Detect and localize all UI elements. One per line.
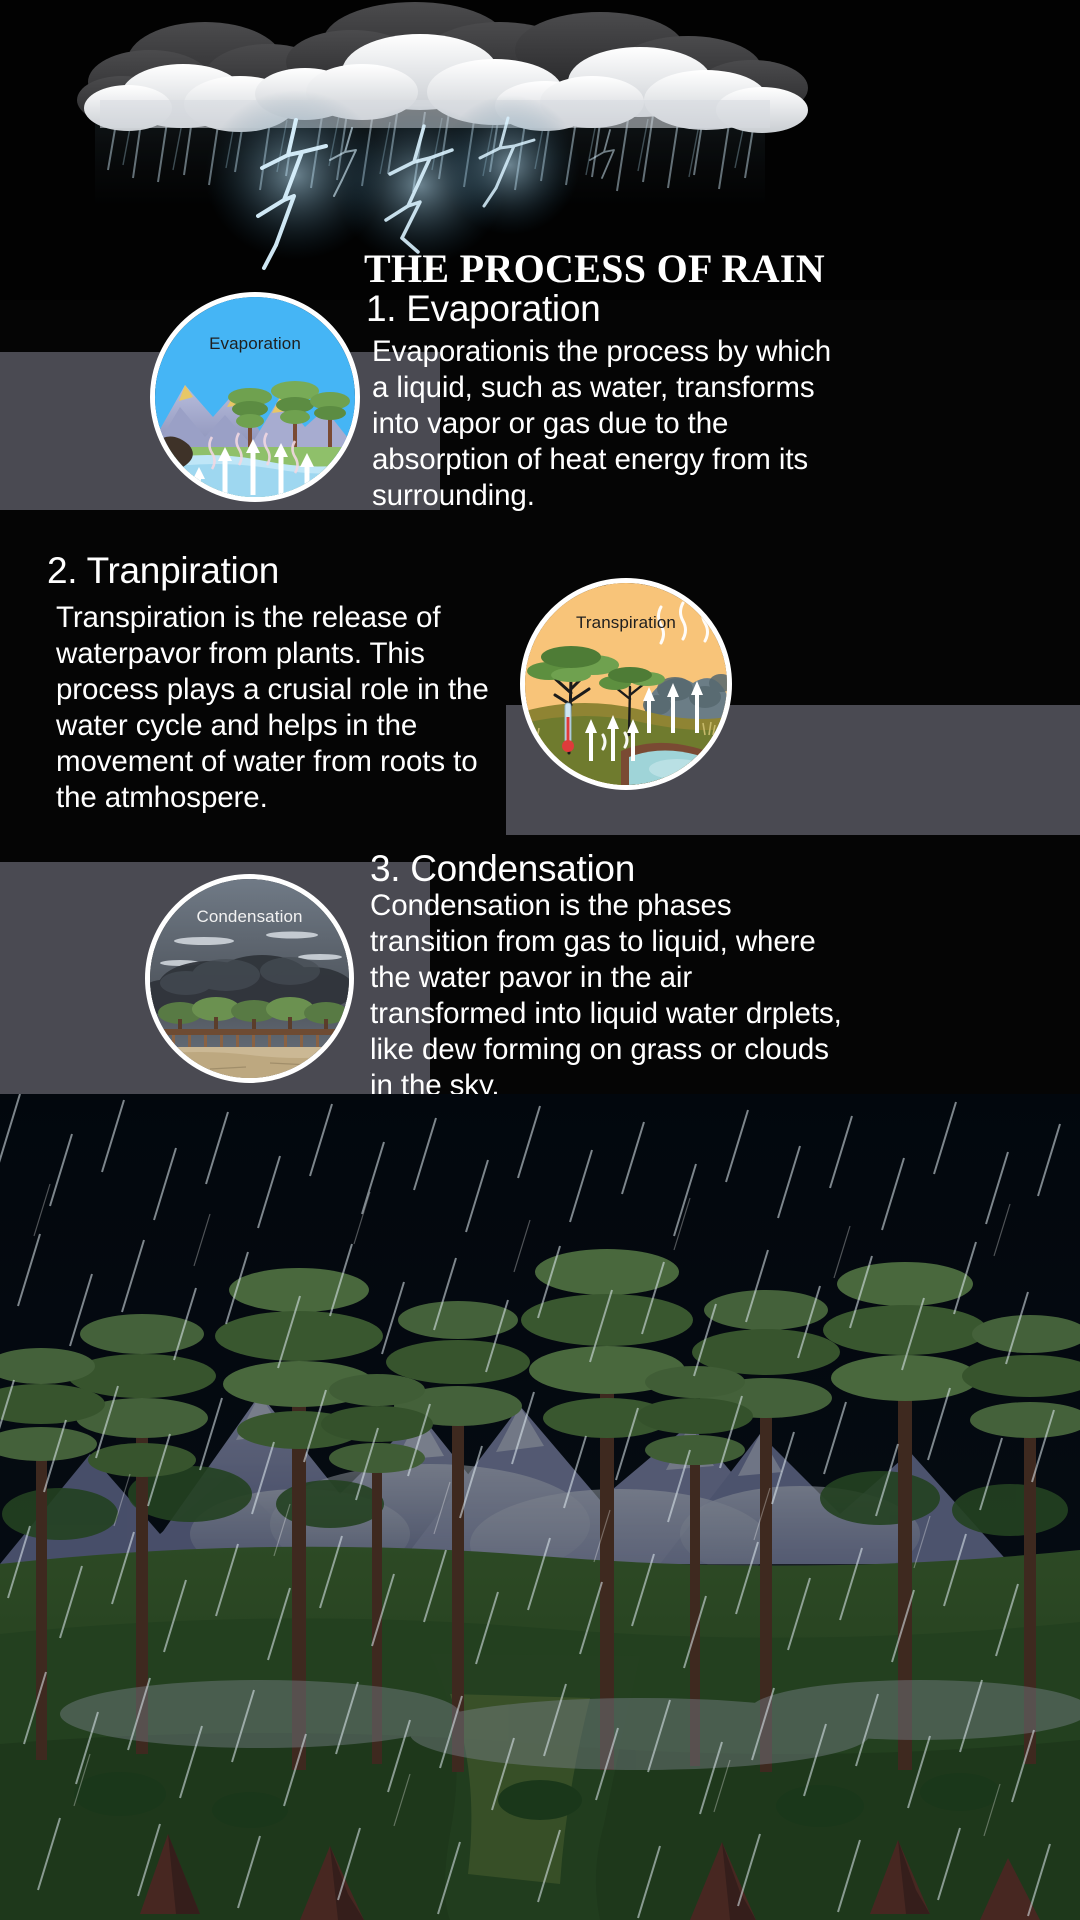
infographic-poster: THE PROCESS OF RAIN 1. Evaporation Evapo…	[0, 0, 1080, 1920]
section-3-heading: 3. Condensation	[370, 848, 635, 890]
section-2-heading: 2. Tranpiration	[47, 550, 279, 592]
section-2-body: Transpiration is the release of waterpav…	[56, 600, 526, 816]
evaporation-circle-label: Evaporation	[155, 334, 355, 354]
transpiration-circle-label: Transpiration	[525, 613, 727, 633]
rainy-forest-mountain-icon	[0, 1094, 1080, 1920]
section-1-heading: 1. Evaporation	[366, 288, 600, 330]
condensation-circle-label: Condensation	[150, 907, 349, 927]
forest-scene	[0, 1094, 1080, 1920]
evaporation-circle-icon	[155, 297, 355, 497]
transpiration-illustration: Transpiration	[520, 578, 732, 790]
evaporation-illustration: Evaporation	[150, 292, 360, 502]
page-title: THE PROCESS OF RAIN	[364, 245, 825, 292]
condensation-illustration: Condensation	[145, 874, 354, 1083]
section-3-body: Condensation is the phases transition fr…	[370, 888, 845, 1104]
section-1-body: Evaporationis the process by which a liq…	[372, 334, 842, 514]
